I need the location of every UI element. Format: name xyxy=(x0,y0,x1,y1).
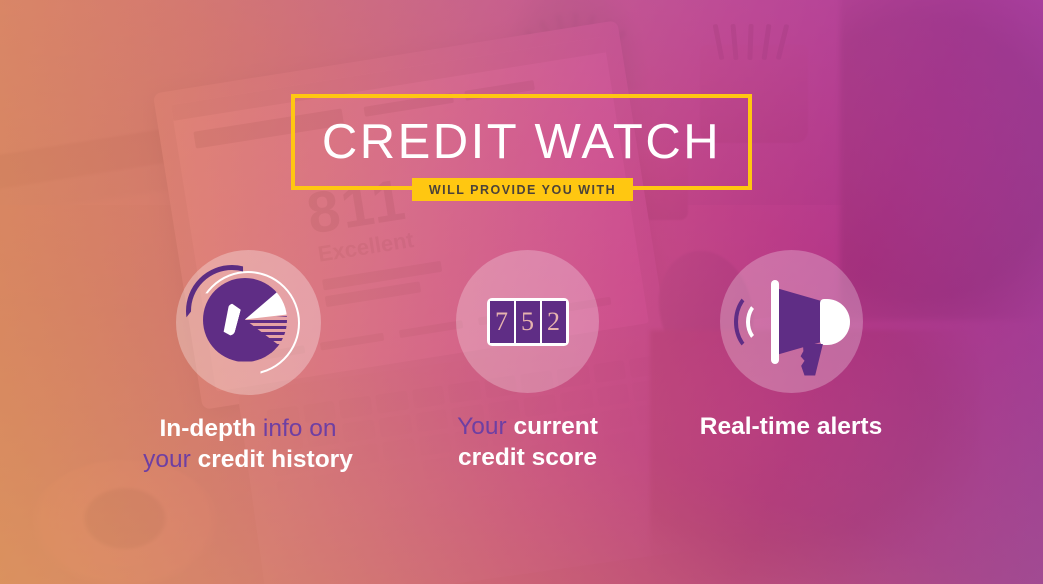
caption-segment: info on xyxy=(256,415,336,442)
caption-segment: In-depth xyxy=(160,415,257,442)
feature-caption: Real-time alerts xyxy=(666,411,916,442)
caption-segment: Real-time alerts xyxy=(700,413,882,440)
icon-circle: 7 5 2 xyxy=(456,250,599,393)
feature-item-credit-score: 7 5 2 Your current credit score xyxy=(400,250,655,474)
megaphone-icon xyxy=(732,272,850,372)
icon-circle xyxy=(176,250,321,395)
caption-segment: your xyxy=(143,446,197,473)
score-digit: 5 xyxy=(516,301,540,343)
caption-segment: current xyxy=(513,413,597,440)
feature-list: In-depth info on your credit history 7 5… xyxy=(0,250,1043,490)
feature-caption: In-depth info on your credit history xyxy=(108,413,388,476)
page-title: CREDIT WATCH xyxy=(291,94,752,190)
caption-segment: Your xyxy=(457,413,513,440)
score-digit: 2 xyxy=(542,301,566,343)
tagline-badge: WILL PROVIDE YOU WITH xyxy=(412,178,633,201)
hero-banner: 811 Excellent xyxy=(0,0,1043,584)
caption-segment: credit history xyxy=(198,446,353,473)
pie-chart-icon xyxy=(192,267,304,379)
feature-caption: Your current credit score xyxy=(400,411,655,474)
credit-score-digits-icon: 7 5 2 xyxy=(487,298,569,346)
score-digit: 7 xyxy=(490,301,514,343)
icon-circle xyxy=(720,250,863,393)
caption-segment: credit score xyxy=(458,444,597,471)
feature-item-credit-history: In-depth info on your credit history xyxy=(108,250,388,476)
feature-item-real-time-alerts: Real-time alerts xyxy=(666,250,916,442)
